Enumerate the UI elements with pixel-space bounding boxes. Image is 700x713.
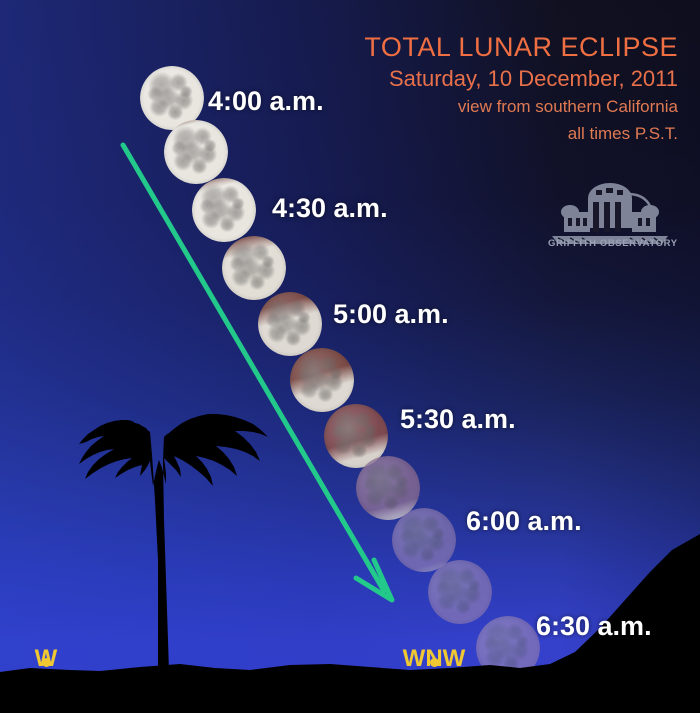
- time-label-3: 5:30 a.m.: [400, 404, 516, 435]
- palm-tree-silhouette: [79, 414, 268, 672]
- time-label-0: 4:00 a.m.: [208, 86, 324, 117]
- time-label-4: 6:00 a.m.: [466, 506, 582, 537]
- lunar-eclipse-infographic: TOTAL LUNAR ECLIPSE Saturday, 10 Decembe…: [0, 0, 700, 713]
- page-title: TOTAL LUNAR ECLIPSE: [364, 33, 678, 62]
- time-label-5: 6:30 a.m.: [536, 611, 652, 642]
- compass-dot-wnw: [430, 658, 439, 667]
- view-location: view from southern California: [364, 97, 678, 117]
- time-label-2: 5:00 a.m.: [333, 299, 449, 330]
- time-label-1: 4:30 a.m.: [272, 193, 388, 224]
- timezone-note: all times P.S.T.: [364, 124, 678, 144]
- event-date: Saturday, 10 December, 2011: [364, 66, 678, 91]
- title-block: TOTAL LUNAR ECLIPSE Saturday, 10 Decembe…: [364, 33, 678, 144]
- logo-caption: GRIFFITH OBSERVATORY: [548, 238, 674, 249]
- compass-dot-w: [42, 658, 51, 667]
